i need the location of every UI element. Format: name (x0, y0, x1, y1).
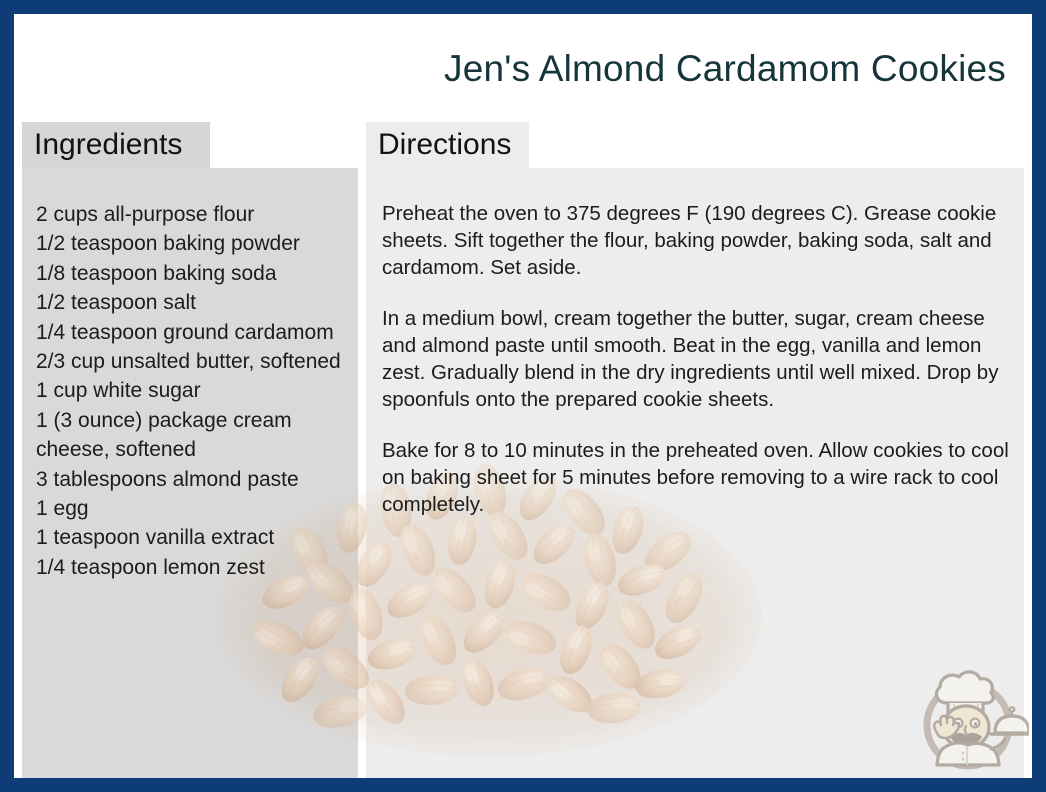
ingredients-list: 2 cups all-purpose flour 1/2 teaspoon ba… (22, 200, 362, 582)
list-item: cheese, softened (22, 435, 362, 464)
directions-paragraph: Bake for 8 to 10 minutes in the preheate… (366, 437, 1026, 518)
recipe-card-page: Jen's Almond Cardamom Cookies (0, 0, 1046, 792)
list-item: 3 tablespoons almond paste (22, 465, 362, 494)
list-item: 1/8 teaspoon baking soda (22, 259, 362, 288)
list-item: 1/4 teaspoon lemon zest (22, 553, 362, 582)
title-banner: Jen's Almond Cardamom Cookies (22, 28, 1024, 110)
list-item: 1 egg (22, 494, 362, 523)
list-item: 1 teaspoon vanilla extract (22, 523, 362, 552)
list-item: 1/2 teaspoon salt (22, 288, 362, 317)
list-item: 1/2 teaspoon baking powder (22, 229, 362, 258)
list-item: 2 cups all-purpose flour (22, 200, 362, 229)
ingredients-heading: Ingredients (22, 122, 210, 168)
list-item: 1 (3 ounce) package cream (22, 406, 362, 435)
directions-paragraph: Preheat the oven to 375 degrees F (190 d… (366, 200, 1026, 281)
directions-paragraph: In a medium bowl, cream together the but… (366, 305, 1026, 413)
chef-logo-icon (907, 657, 1029, 778)
recipe-card-body: Jen's Almond Cardamom Cookies (14, 14, 1032, 778)
page-title: Jen's Almond Cardamom Cookies (444, 48, 1006, 90)
list-item: 1/4 teaspoon ground cardamom (22, 318, 362, 347)
list-item: 2/3 cup unsalted butter, softened (22, 347, 362, 376)
directions-heading: Directions (366, 122, 529, 168)
directions-body: Preheat the oven to 375 degrees F (190 d… (366, 200, 1026, 518)
list-item: 1 cup white sugar (22, 376, 362, 405)
